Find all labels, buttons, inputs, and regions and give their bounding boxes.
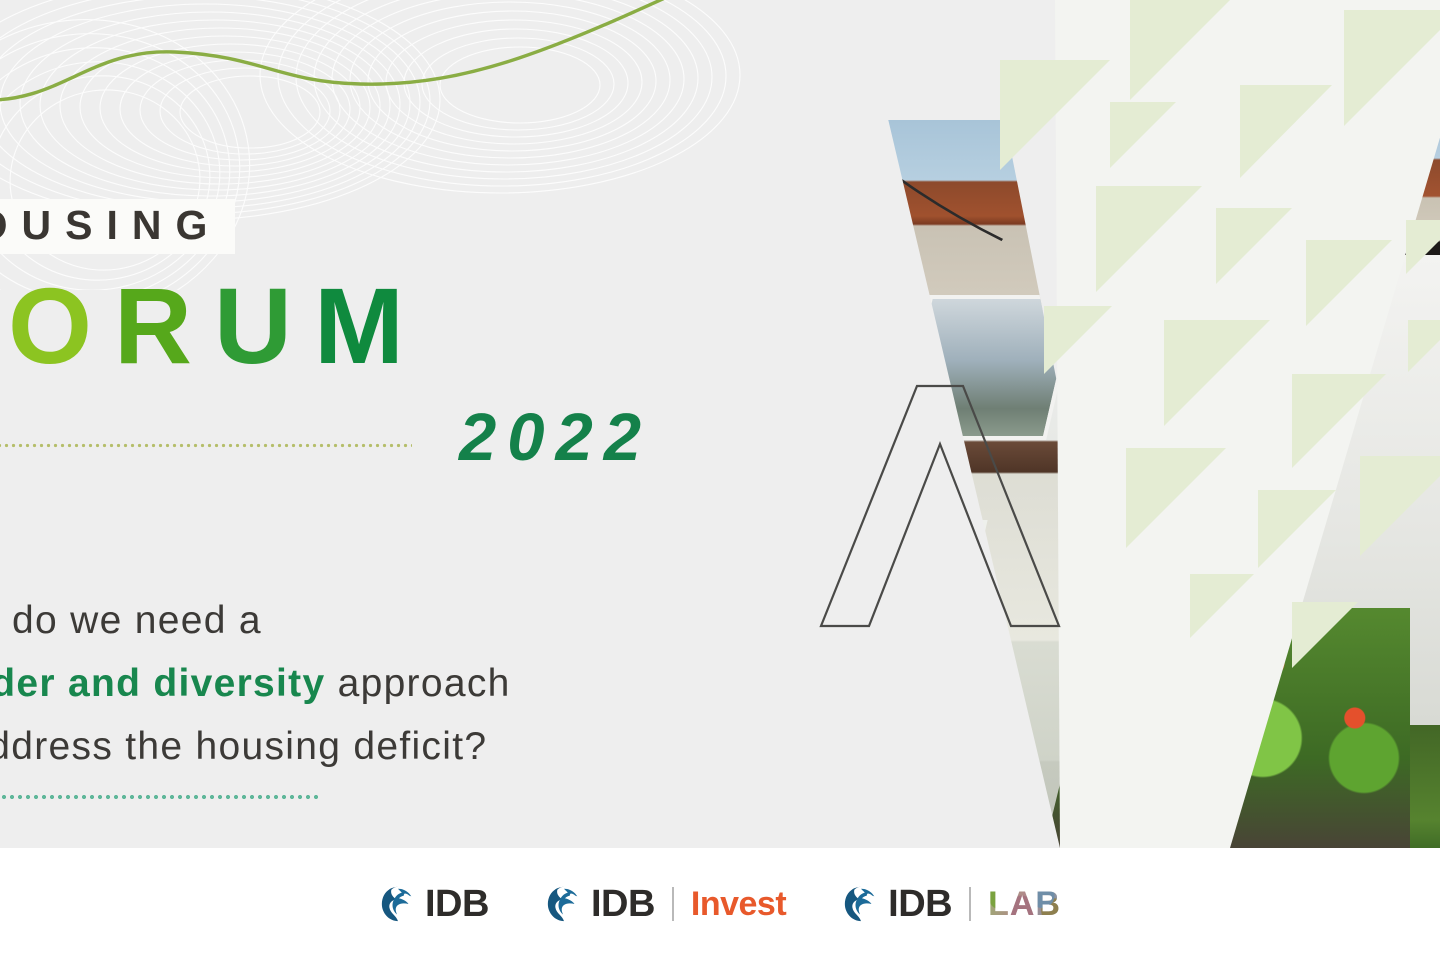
headline-line-3: to address the housing deficit?	[0, 715, 848, 778]
logo-divider	[969, 887, 971, 921]
logo-divider	[672, 887, 674, 921]
logo-footer: IDB IDB Invest IDB LAB	[0, 848, 1440, 960]
logo-invest-text: Invest	[691, 887, 786, 921]
poster-content: HOUSING FORUM 2022 Why do we need a gend…	[0, 0, 818, 848]
logo-idb-lab: IDB LAB	[842, 885, 1061, 923]
headline-line-1: Why do we need a	[0, 589, 848, 652]
logo-idb-text: IDB	[888, 885, 952, 923]
logo-idb-invest: IDB Invest	[545, 885, 786, 923]
wordmark-letter-0: F	[0, 272, 8, 380]
floral-blouse	[1150, 466, 1254, 584]
headline: Why do we need a gender and diversity ap…	[0, 589, 848, 779]
headline-line2-suffix: approach	[325, 662, 510, 705]
head	[1180, 420, 1222, 470]
headline-line2-prefix: gend	[0, 662, 16, 705]
year-2022: 2022	[459, 404, 652, 471]
wordmark-letter-2: R	[114, 272, 214, 380]
headline-line3-prefix: to ad	[0, 725, 11, 768]
idb-globe-icon	[379, 885, 417, 923]
wordmark-letter-3: U	[214, 272, 314, 380]
wordmark-forum: FORUM	[0, 272, 426, 380]
dotted-rule-bottom	[0, 794, 320, 800]
kicker-housing: HOUSING	[0, 199, 235, 254]
idb-globe-icon	[545, 885, 583, 923]
wordmark-letter-4: M	[314, 272, 426, 380]
poster-canvas: HOUSING FORUM 2022 Why do we need a gend…	[0, 0, 1440, 960]
dotted-rule-top	[0, 443, 412, 448]
logo-idb-text: IDB	[591, 885, 655, 923]
wordmark-letter-1: O	[8, 272, 114, 380]
logo-lab-text: LAB	[988, 887, 1061, 921]
headline-accent: er and diversity	[16, 662, 325, 705]
photo-collage	[760, 0, 1440, 848]
headline-line1-text: do we need a	[12, 599, 262, 642]
logo-idb-text: IDB	[425, 885, 489, 923]
logo-idb: IDB	[379, 885, 489, 923]
headline-line1-prefix: Why	[0, 599, 12, 642]
idb-globe-icon	[842, 885, 880, 923]
headline-line-2: gender and diversity approach	[0, 652, 848, 715]
headline-line3-text: dress the housing deficit?	[11, 725, 487, 768]
